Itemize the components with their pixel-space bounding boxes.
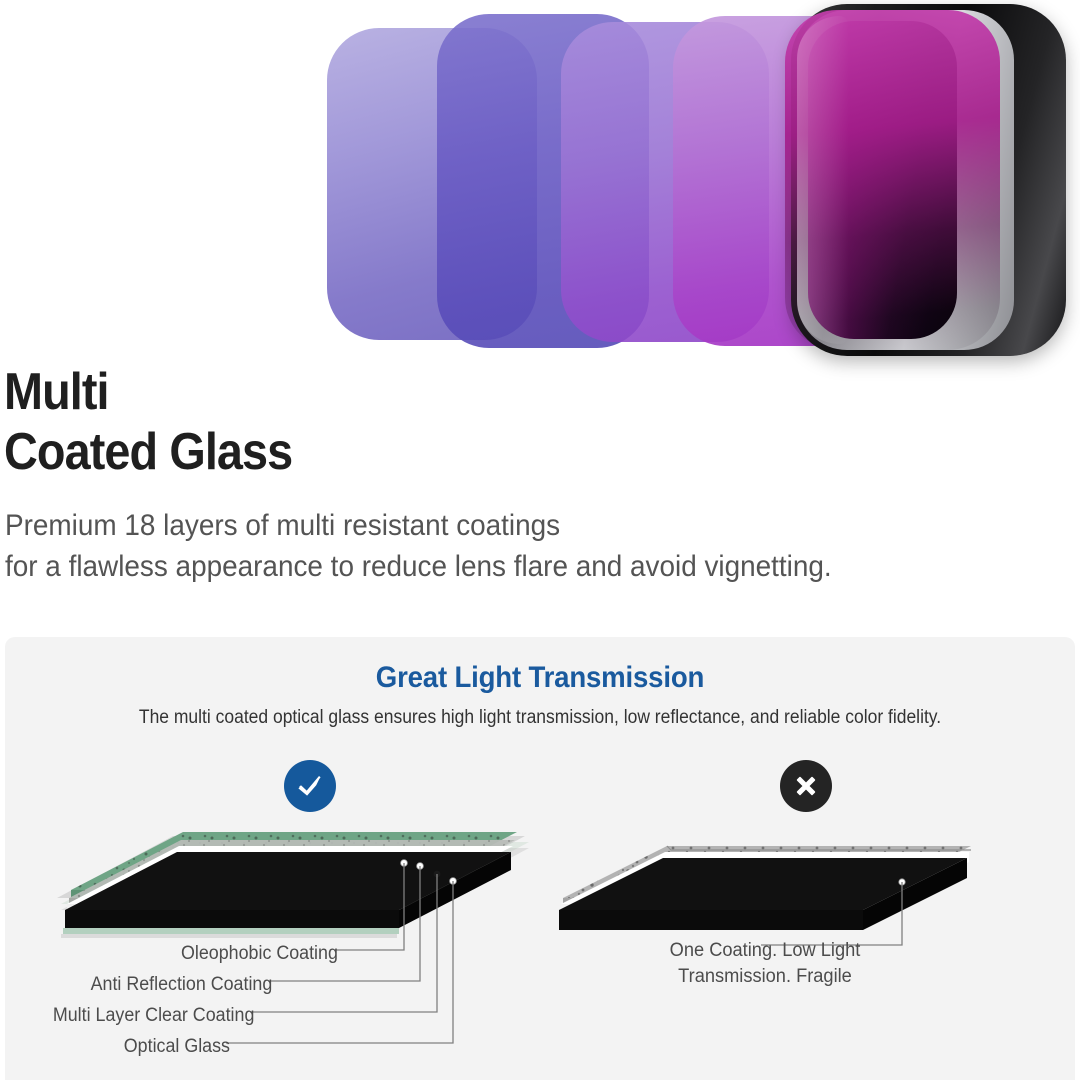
- page-subtitle-line-2: for a flawless appearance to reduce lens…: [5, 546, 982, 587]
- single-coating-glass-diagram: [553, 840, 983, 940]
- label-anti-reflection-coating: Anti Reflection Coating: [90, 974, 272, 996]
- panel-title: Great Light Transmission: [48, 661, 1032, 695]
- label-one-coating-line-2: Transmission. Fragile: [678, 966, 852, 987]
- page-subtitle-line-1: Premium 18 layers of multi resistant coa…: [5, 505, 982, 546]
- cross-icon: [780, 760, 832, 812]
- filter-stack: [0, 0, 1080, 360]
- multi-layer-glass-diagram: [55, 818, 535, 948]
- label-optical-glass: Optical Glass: [124, 1036, 230, 1058]
- hero-product-image: [0, 0, 1080, 360]
- label-one-coating: One Coating. Low Light Transmission. Fra…: [626, 938, 904, 990]
- page-title-line-2: Coated Glass: [4, 422, 814, 482]
- label-multi-layer-clear-coating: Multi Layer Clear Coating: [52, 1005, 254, 1027]
- label-oleophobic-coating: Oleophobic Coating: [181, 943, 338, 965]
- check-icon: [284, 760, 336, 812]
- page-subtitle: Premium 18 layers of multi resistant coa…: [5, 505, 982, 587]
- page-title-line-1: Multi: [4, 362, 814, 422]
- filter-sheet-5: [785, 10, 1000, 350]
- page-title: Multi Coated Glass: [4, 362, 814, 482]
- label-one-coating-line-1: One Coating. Low Light: [670, 940, 861, 961]
- panel-subtitle: The multi coated optical glass ensures h…: [48, 707, 1032, 729]
